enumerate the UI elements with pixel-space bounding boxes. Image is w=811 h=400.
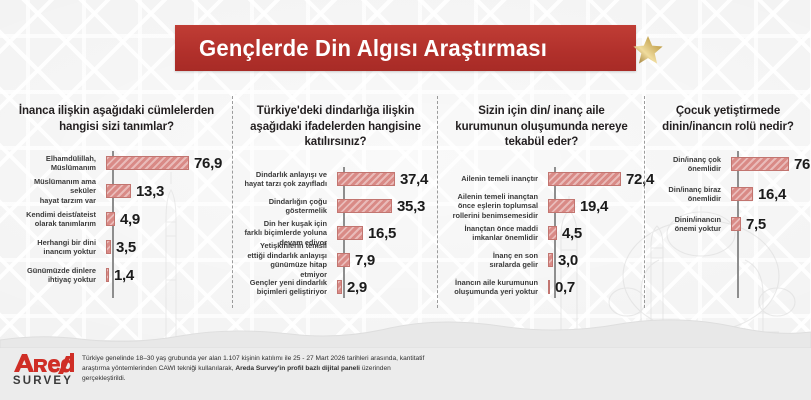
bar-label: Günümüzde dinlere ihtiyaç yoktur — [10, 266, 102, 285]
bar-zone: 16,4 — [727, 186, 801, 203]
bar-label: Gençler yeni dindarlık biçimleri gelişti… — [243, 278, 333, 297]
chart-title-4: Çocuk yetiştirmede dinin/inancın rolü ne… — [655, 104, 801, 135]
table-row: Din/inanç çok önemlidir 76,1 — [655, 151, 801, 177]
bar — [337, 226, 363, 240]
bar-value: 1,4 — [114, 267, 134, 284]
bar-value: 3,0 — [558, 252, 578, 269]
bar — [548, 253, 553, 267]
bar-value: 76,1 — [794, 156, 811, 173]
bar-zone: 19,4 — [544, 198, 635, 215]
bar-value: 4,5 — [562, 225, 582, 242]
bar-label: Dindarlığın çoğu göstermelik — [243, 197, 333, 216]
table-row: Yetişkinlerin temsil ettiği dindarlık an… — [243, 248, 428, 273]
charts-row: İnanca ilişkin aşağıdaki cümlelerden han… — [0, 92, 811, 304]
bar — [337, 172, 395, 186]
bar-value: 3,5 — [116, 239, 136, 256]
table-row: Herhangi bir dini inancım yoktur 3,5 — [10, 235, 223, 259]
bar — [548, 280, 550, 294]
bar-zone: 76,1 — [727, 156, 801, 173]
bar-label: İnanç en son sıralarda gelir — [448, 251, 544, 270]
chart-title-1: İnanca ilişkin aşağıdaki cümlelerden han… — [10, 104, 223, 135]
bar-label: İnancın aile kurumunun oluşumunda yeri y… — [448, 278, 544, 297]
table-row: Dindarlığın çoğu göstermelik 35,3 — [243, 194, 428, 219]
infographic-root: Gençlerde Din Algısı Araştırması — [0, 0, 811, 400]
bar-label: Müslümanım ama seküler hayat tarzım var — [10, 177, 102, 205]
bar-chart-1: Elhamdülillah, Müslümanım 76,9 Müslümanı… — [10, 151, 223, 304]
title-banner: Gençlerde Din Algısı Araştırması — [0, 22, 811, 74]
chart-panel-belief-statements: İnanca ilişkin aşağıdaki cümlelerden han… — [0, 92, 233, 304]
methodology-panel-highlight: Areda Survey'in profil bazlı dijital pan… — [235, 365, 360, 372]
bar-label: Herhangi bir dini inancım yoktur — [10, 238, 102, 257]
bar-zone: 4,9 — [102, 211, 223, 228]
bar-value: 4,9 — [120, 211, 140, 228]
bar-zone: 0,7 — [544, 279, 635, 296]
bar-zone: 7,9 — [333, 252, 428, 269]
chart-panel-child-rearing: Çocuk yetiştirmede dinin/inancın rolü ne… — [645, 92, 811, 304]
bar-zone: 35,3 — [333, 198, 428, 215]
bar — [106, 212, 115, 226]
bar-value: 37,4 — [400, 171, 428, 188]
methodology-line-1: Türkiye genelinde 18–30 yaş grubunda yer… — [82, 355, 424, 362]
bar-value: 7,9 — [355, 252, 375, 269]
bar-rows-3: Ailenin temeli inançtır 72,4 Ailenin tem… — [448, 167, 635, 300]
chart-panel-family-institution: Sizin için din/ inanç aile kurumunun olu… — [438, 92, 645, 304]
footer: SURVEY Türkiye genelinde 18–30 yaş grubu… — [0, 338, 811, 400]
bar-value: 16,4 — [758, 186, 786, 203]
bar-chart-4: Din/inanç çok önemlidir 76,1 Din/inanç b… — [655, 151, 801, 304]
bar — [731, 217, 741, 231]
table-row: Müslümanım ama seküler hayat tarzım var … — [10, 179, 223, 203]
bar-zone: 37,4 — [333, 171, 428, 188]
chart-title-2: Türkiye'deki dindarlığa ilişkin aşağıdak… — [243, 104, 428, 151]
chart-title-3: Sizin için din/ inanç aile kurumunun olu… — [448, 104, 635, 151]
bar-zone: 3,5 — [102, 239, 223, 256]
bar-zone: 2,9 — [333, 279, 428, 296]
bar-value: 13,3 — [136, 183, 164, 200]
bar-zone: 13,3 — [102, 183, 223, 200]
bar-label: Ailenin temeli inançtır — [448, 174, 544, 183]
areda-survey-logo: SURVEY — [8, 352, 78, 387]
bar-label: Din/inanç biraz önemlidir — [655, 185, 727, 204]
table-row: Dindarlık anlayışı ve hayat tarzı çok za… — [243, 167, 428, 192]
bar-label: Elhamdülillah, Müslümanım — [10, 154, 102, 173]
bar-label: Dindarlık anlayışı ve hayat tarzı çok za… — [243, 170, 333, 189]
bar-zone: 72,4 — [544, 171, 635, 188]
bar — [337, 280, 342, 294]
bar-chart-3: Ailenin temeli inançtır 72,4 Ailenin tem… — [448, 167, 635, 304]
bar-value: 19,4 — [580, 198, 608, 215]
methodology-note: Türkiye genelinde 18–30 yaş grubunda yer… — [82, 354, 427, 385]
table-row: İnancın aile kurumunun oluşumunda yeri y… — [448, 275, 635, 300]
bar — [106, 184, 131, 198]
bar — [548, 199, 575, 213]
bar-label: Din/inanç çok önemlidir — [655, 155, 727, 174]
bar — [731, 187, 753, 201]
bar-label: İnançtan önce maddi imkanlar önemlidir — [448, 224, 544, 243]
bar-label: Kendimi deist/ateist olarak tanımlarım — [10, 210, 102, 229]
bar-zone: 16,5 — [333, 225, 428, 242]
bar-label: Ailenin temeli inançtan önce eşlerin top… — [448, 192, 544, 220]
bar-rows-1: Elhamdülillah, Müslümanım 76,9 Müslümanı… — [10, 151, 223, 287]
table-row: İnançtan önce maddi imkanlar önemlidir 4… — [448, 221, 635, 246]
table-row: Ailenin temeli inançtan önce eşlerin top… — [448, 194, 635, 219]
bar-value: 16,5 — [368, 225, 396, 242]
table-row: Dinin/inancın önemi yoktur 7,5 — [655, 211, 801, 237]
bar-value: 0,7 — [555, 279, 575, 296]
title-bar: Gençlerde Din Algısı Araştırması — [175, 25, 636, 71]
areda-wordmark-icon — [12, 352, 74, 374]
methodology-line-2a: araştırma yöntemlerinden CAWI tekniği ku… — [82, 365, 235, 372]
bar-chart-2: Dindarlık anlayışı ve hayat tarzı çok za… — [243, 167, 428, 304]
logo-subtitle: SURVEY — [8, 375, 78, 387]
bar-value: 76,9 — [194, 155, 222, 172]
bar — [548, 226, 557, 240]
bar — [106, 240, 111, 254]
bar-rows-4: Din/inanç çok önemlidir 76,1 Din/inanç b… — [655, 151, 801, 237]
table-row: Kendimi deist/ateist olarak tanımlarım 4… — [10, 207, 223, 231]
chart-panel-religiosity-statements: Türkiye'deki dindarlığa ilişkin aşağıdak… — [233, 92, 438, 304]
bar — [106, 156, 189, 170]
bar — [106, 268, 109, 282]
bar-label: Yetişkinlerin temsil ettiği dindarlık an… — [243, 241, 333, 279]
table-row: Gençler yeni dindarlık biçimleri gelişti… — [243, 275, 428, 300]
bar-zone: 7,5 — [727, 216, 801, 233]
bar-zone: 3,0 — [544, 252, 635, 269]
table-row: Din/inanç biraz önemlidir 16,4 — [655, 181, 801, 207]
bar — [337, 253, 350, 267]
bar-label: Dinin/inancın önemi yoktur — [655, 215, 727, 234]
table-row: Elhamdülillah, Müslümanım 76,9 — [10, 151, 223, 175]
table-row: İnanç en son sıralarda gelir 3,0 — [448, 248, 635, 273]
bar-value: 2,9 — [347, 279, 367, 296]
crescent-star-icon — [590, 8, 670, 88]
bar-rows-2: Dindarlık anlayışı ve hayat tarzı çok za… — [243, 167, 428, 300]
bar-value: 7,5 — [746, 216, 766, 233]
page-title: Gençlerde Din Algısı Araştırması — [199, 35, 547, 62]
bar — [731, 157, 789, 171]
bar-zone: 76,9 — [102, 155, 223, 172]
bar — [548, 172, 621, 186]
bar-zone: 4,5 — [544, 225, 635, 242]
bar-value: 35,3 — [397, 198, 425, 215]
bar — [337, 199, 392, 213]
table-row: Günümüzde dinlere ihtiyaç yoktur 1,4 — [10, 263, 223, 287]
table-row: Ailenin temeli inançtır 72,4 — [448, 167, 635, 192]
bar-zone: 1,4 — [102, 267, 223, 284]
